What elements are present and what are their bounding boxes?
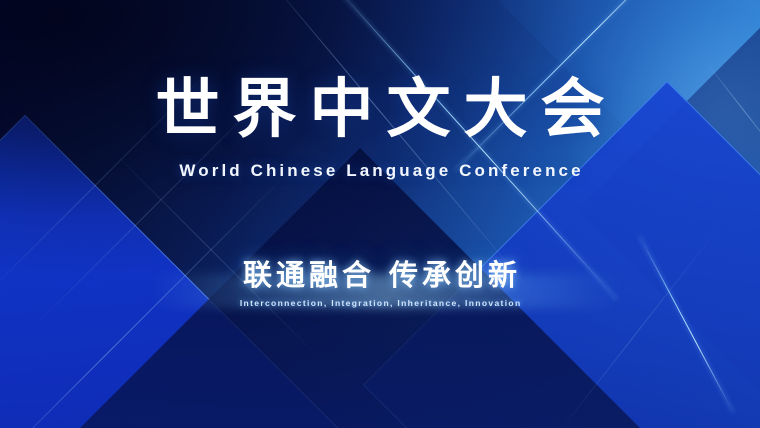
poster-content: 世界中文大会 World Chinese Language Conference…	[0, 0, 760, 428]
page-title-chinese: 世界中文大会	[143, 78, 618, 142]
conference-poster: 世界中文大会 World Chinese Language Conference…	[0, 0, 760, 428]
tagline-chinese: 联通融合 传承创新	[0, 252, 760, 294]
tagline-block: 联通融合 传承创新 Interconnection, Integration, …	[0, 252, 760, 308]
page-title-english: World Chinese Language Conference	[176, 161, 583, 181]
tagline-english: Interconnection, Integration, Inheritanc…	[0, 298, 760, 308]
